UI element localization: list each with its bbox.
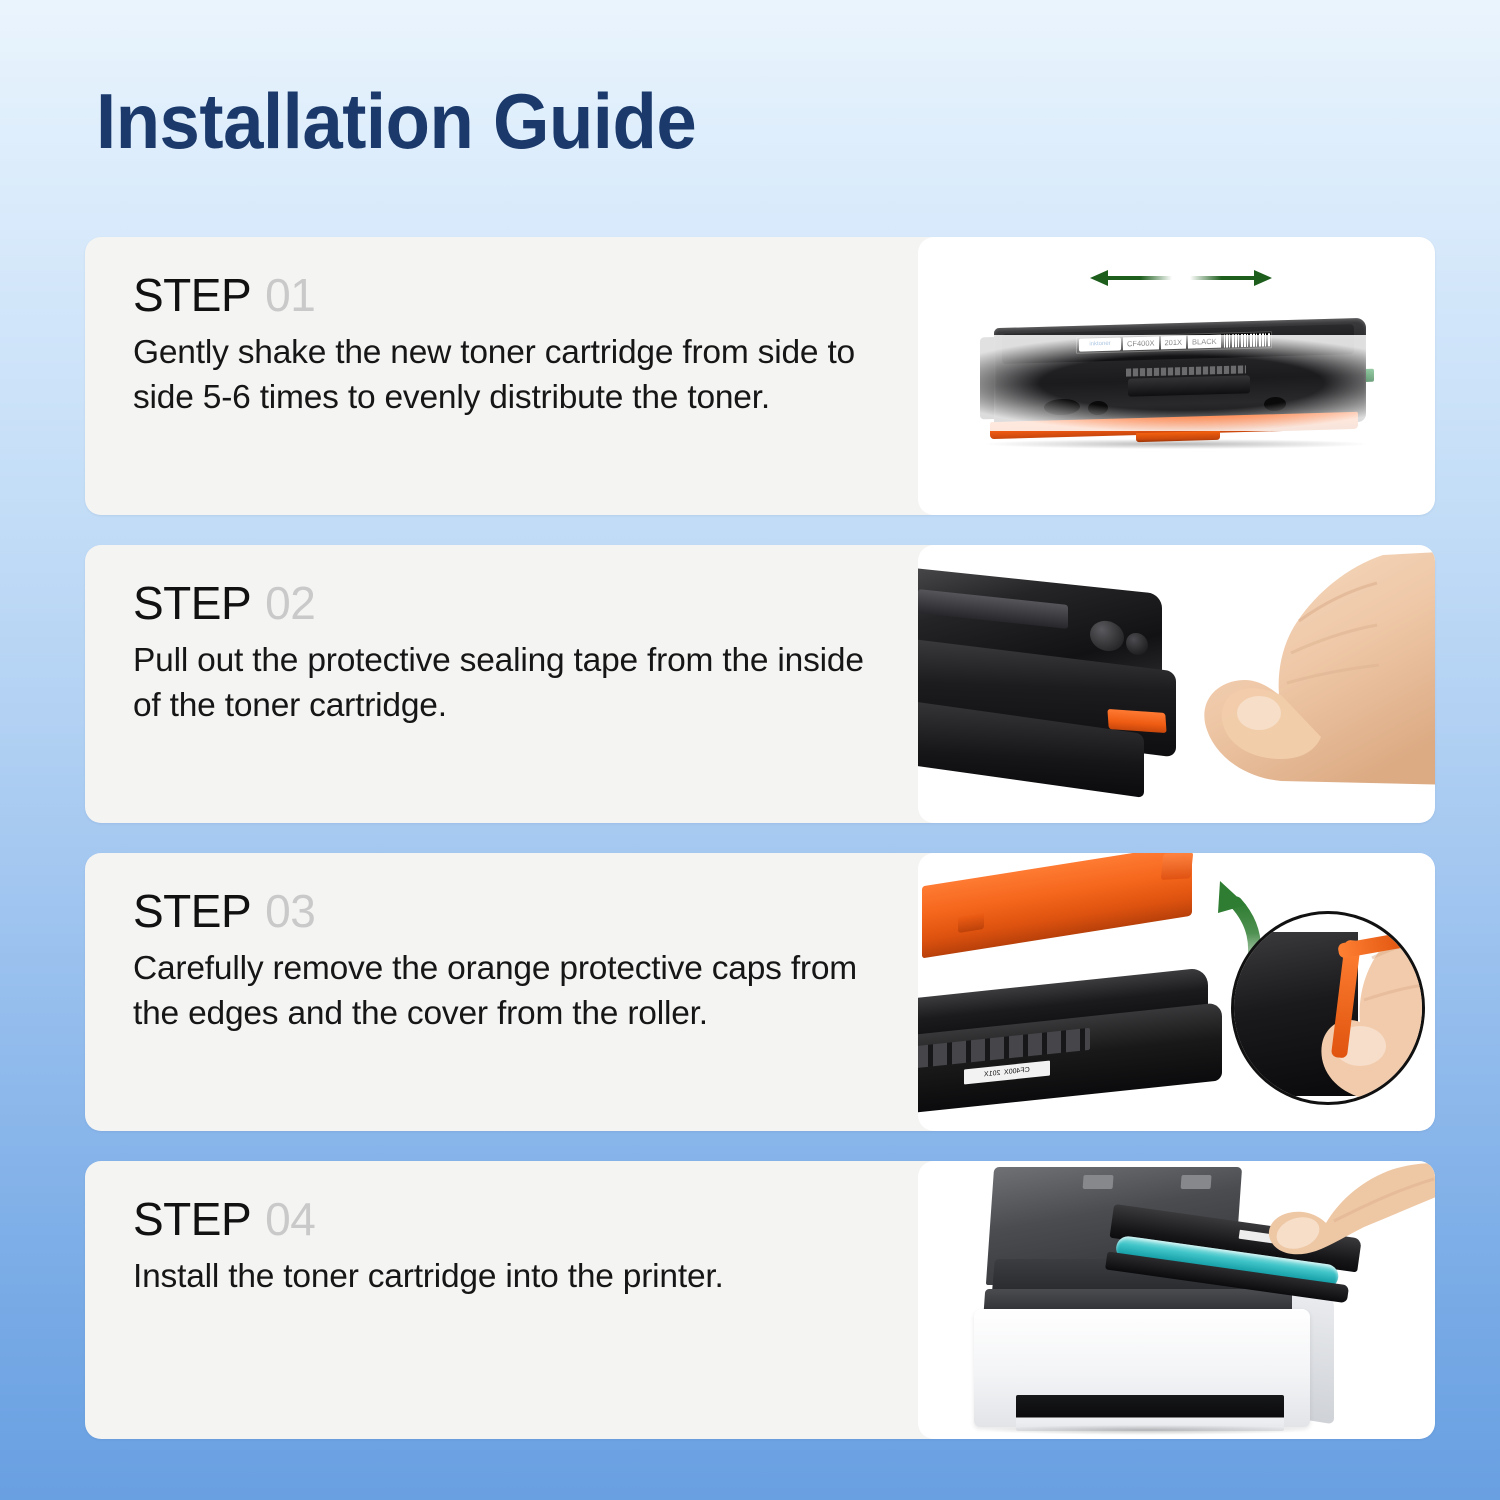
step-description-02: Pull out the protective sealing tape fro… xyxy=(133,639,893,727)
step-image-01: inktoner CF400X 201X BLACK xyxy=(918,237,1435,515)
step-heading-04: STEP04 xyxy=(133,1195,898,1243)
step-card-04: STEP04 Install the toner cartridge into … xyxy=(85,1161,1435,1439)
cartridge-brand-logo: inktoner xyxy=(1079,337,1121,351)
shake-arrows-icon xyxy=(1086,261,1276,295)
toner-cartridge-graphic: 201X CF400X xyxy=(918,965,1238,1115)
toner-cartridge-graphic: inktoner CF400X 201X BLACK xyxy=(946,313,1408,451)
step-card-01: STEP01 Gently shake the new toner cartri… xyxy=(85,237,1435,515)
step-text-03: STEP03 Carefully remove the orange prote… xyxy=(85,853,918,1131)
step-description-01: Gently shake the new toner cartridge fro… xyxy=(133,331,893,419)
step-label-02: STEP xyxy=(133,577,251,629)
steps-list: STEP01 Gently shake the new toner cartri… xyxy=(85,237,1435,1469)
printer-graphic xyxy=(962,1163,1432,1439)
step-number-03: 03 xyxy=(265,885,315,937)
step-number-04: 04 xyxy=(265,1193,315,1245)
cartridge-model: CF400X xyxy=(1123,336,1159,350)
cartridge-color: BLACK xyxy=(1188,335,1221,349)
step-description-04: Install the toner cartridge into the pri… xyxy=(133,1255,893,1299)
hand-graphic xyxy=(1198,1163,1435,1295)
step-heading-02: STEP02 xyxy=(133,579,898,627)
cartridge-series: 201X xyxy=(984,1070,1000,1079)
closeup-inset-circle xyxy=(1231,911,1425,1105)
orange-protective-cap xyxy=(922,853,1192,958)
step-image-04 xyxy=(918,1161,1435,1439)
cartridge-model: CF400X xyxy=(1004,1067,1030,1077)
step-number-01: 01 xyxy=(265,269,315,321)
step-card-02: STEP02 Pull out the protective sealing t… xyxy=(85,545,1435,823)
step-text-04: STEP04 Install the toner cartridge into … xyxy=(85,1161,918,1439)
step-text-01: STEP01 Gently shake the new toner cartri… xyxy=(85,237,918,515)
step-text-02: STEP02 Pull out the protective sealing t… xyxy=(85,545,918,823)
step-heading-03: STEP03 xyxy=(133,887,898,935)
step-card-03: STEP03 Carefully remove the orange prote… xyxy=(85,853,1435,1131)
step-heading-01: STEP01 xyxy=(133,271,898,319)
step-label-01: STEP xyxy=(133,269,251,321)
step-label-04: STEP xyxy=(133,1193,251,1245)
step-image-03: 201X CF400X xyxy=(918,853,1435,1131)
hand-graphic xyxy=(1131,545,1435,791)
step-description-03: Carefully remove the orange protective c… xyxy=(133,947,893,1035)
step-number-02: 02 xyxy=(265,577,315,629)
page-title: Installation Guide xyxy=(96,82,696,160)
cartridge-series: 201X xyxy=(1161,336,1187,350)
step-label-03: STEP xyxy=(133,885,251,937)
cartridge-barcode xyxy=(1224,333,1271,347)
step-image-02 xyxy=(918,545,1435,823)
